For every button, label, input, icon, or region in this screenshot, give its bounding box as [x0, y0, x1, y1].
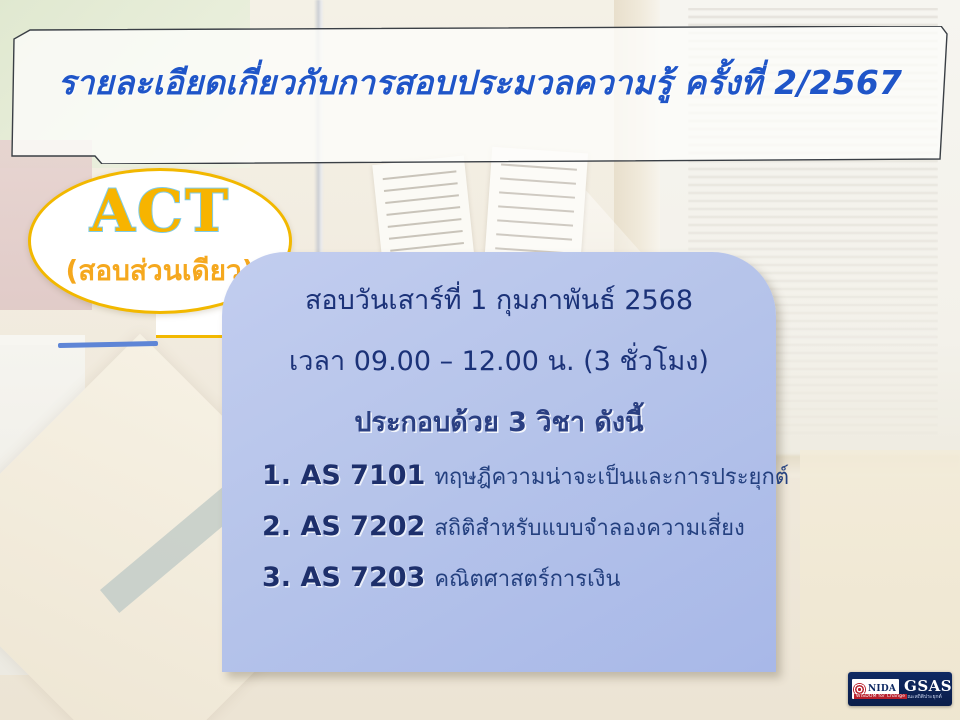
- act-badge-title: ACT: [31, 181, 289, 241]
- subject-code: 2. AS 7202: [262, 511, 425, 542]
- exam-time-line: เวลา 09.00 – 12.00 น. (3 ชั่วโมง): [240, 339, 758, 382]
- slide-canvas: รายละเอียดเกี่ยวกับการสอบประมวลความรู้ ค…: [0, 0, 960, 720]
- exam-subjects-heading: ประกอบด้วย 3 วิชา ดังนี้: [240, 400, 758, 443]
- page-title: รายละเอียดเกี่ยวกับการสอบประมวลความรู้ ค…: [0, 56, 960, 109]
- subject-list-item: 1. AS 7101 ทฤษฎีความน่าจะเป็นและการประยุ…: [262, 459, 758, 494]
- nida-gsas-logo: NIDA WISDOM for Change GSAS คณะสถิติประย…: [848, 672, 952, 706]
- subject-name: สถิติสำหรับแบบจำลองความเสี่ยง: [434, 510, 744, 545]
- exam-date-line: สอบวันเสาร์ที่ 1 กุมภาพันธ์ 2568: [240, 278, 758, 321]
- subject-code: 1. AS 7101: [262, 460, 425, 491]
- subject-list-item: 2. AS 7202 สถิติสำหรับแบบจำลองความเสี่ยง: [262, 510, 758, 545]
- gsas-thai-name: คณะสถิติประยุกต์: [904, 694, 952, 700]
- nida-tagline: WISDOM for Change: [854, 694, 907, 699]
- exam-details-panel: สอบวันเสาร์ที่ 1 กุมภาพันธ์ 2568 เวลา 09…: [222, 252, 776, 672]
- nida-wordmark: NIDA: [868, 684, 896, 694]
- subject-name: คณิตศาสตร์การเงิน: [434, 561, 620, 596]
- gsas-wordmark: GSAS: [904, 679, 952, 694]
- subject-list-item: 3. AS 7203 คณิตศาสตร์การเงิน: [262, 561, 758, 596]
- subject-code: 3. AS 7203: [262, 562, 425, 593]
- subject-name: ทฤษฎีความน่าจะเป็นและการประยุกต์: [434, 459, 789, 494]
- gsas-lockup: GSAS คณะสถิติประยุกต์: [904, 679, 952, 700]
